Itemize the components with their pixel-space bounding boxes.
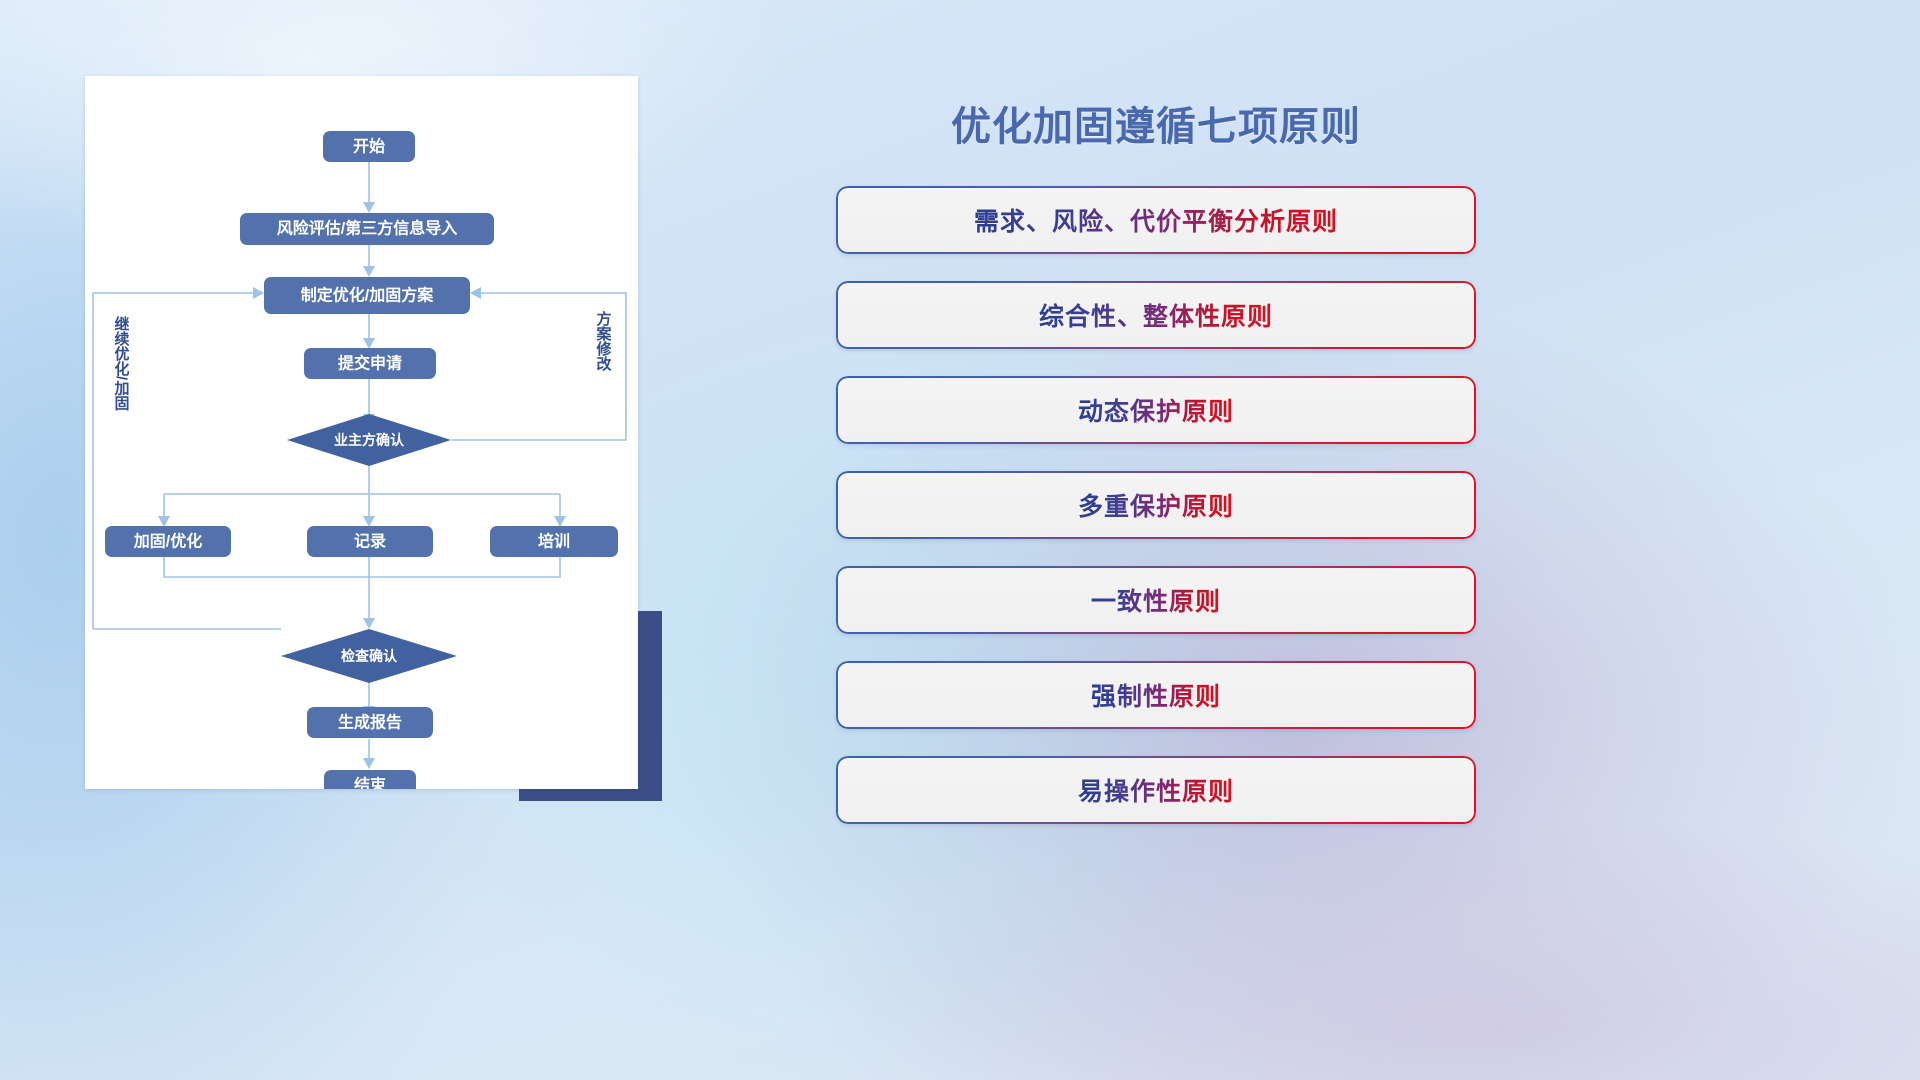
flow-node-submit-label: 提交申请 (338, 354, 402, 373)
page-title: 优化加固遵循七项原则 (836, 94, 1476, 152)
principle-label: 需求、风险、代价平衡分析原则 (974, 202, 1338, 238)
flow-node-training-label: 培训 (538, 532, 570, 551)
flow-node-check-confirm-label: 检查确认 (341, 648, 398, 664)
list-item[interactable]: 一致性原则 (836, 566, 1476, 634)
list-item[interactable]: 需求、风险、代价平衡分析原则 (836, 186, 1476, 254)
flow-node-report-label: 生成报告 (338, 713, 402, 732)
list-item[interactable]: 多重保护原则 (836, 471, 1476, 539)
flowchart-diagram: 开始 风险评估/第三方信息导入 制定优化/加固方案 提交申请 业主方确认 加固/… (85, 76, 638, 789)
principle-label: 动态保护原则 (1078, 392, 1234, 428)
flow-node-start[interactable]: 开始 (323, 131, 415, 162)
flow-node-check-confirm[interactable]: 检查确认 (281, 629, 457, 683)
principle-label: 强制性原则 (1091, 677, 1221, 713)
flow-node-end-label: 结束 (353, 776, 387, 790)
principle-label: 综合性、整体性原则 (1039, 297, 1273, 333)
list-item[interactable]: 动态保护原则 (836, 376, 1476, 444)
list-item[interactable]: 易操作性原则 (836, 756, 1476, 824)
flow-edge-label-left-loop: 继续优化/加固 (113, 315, 131, 411)
flow-node-submit[interactable]: 提交申请 (304, 348, 436, 379)
flow-node-owner-confirm-label: 业主方确认 (334, 432, 405, 448)
flow-node-risk-assessment[interactable]: 风险评估/第三方信息导入 (240, 213, 494, 245)
principles-list: 需求、风险、代价平衡分析原则 综合性、整体性原则 动态保护原则 多重保护原则 一… (836, 186, 1476, 851)
principles-panel: 优化加固遵循七项原则 需求、风险、代价平衡分析原则 综合性、整体性原则 动态保护… (836, 80, 1476, 820)
flow-node-end[interactable]: 结束 (324, 770, 416, 789)
flow-edge-label-right-loop: 方案修改 (595, 310, 613, 372)
flow-node-owner-confirm[interactable]: 业主方确认 (287, 414, 451, 466)
flow-node-report[interactable]: 生成报告 (307, 707, 433, 738)
principle-label: 一致性原则 (1091, 582, 1221, 618)
flow-node-reinforce-label: 加固/优化 (133, 532, 202, 551)
flow-node-record-label: 记录 (354, 533, 386, 551)
flow-node-start-label: 开始 (353, 137, 385, 156)
flow-node-reinforce[interactable]: 加固/优化 (105, 526, 231, 557)
flow-node-plan[interactable]: 制定优化/加固方案 (264, 277, 470, 314)
list-item[interactable]: 综合性、整体性原则 (836, 281, 1476, 349)
list-item[interactable]: 强制性原则 (836, 661, 1476, 729)
flowchart-card: 开始 风险评估/第三方信息导入 制定优化/加固方案 提交申请 业主方确认 加固/… (85, 76, 638, 789)
principle-label: 多重保护原则 (1078, 487, 1234, 523)
principle-label: 易操作性原则 (1078, 772, 1234, 808)
flow-node-risk-assessment-label: 风险评估/第三方信息导入 (277, 219, 457, 238)
flow-node-record[interactable]: 记录 (307, 526, 433, 557)
flow-node-plan-label: 制定优化/加固方案 (301, 286, 434, 305)
flow-node-training[interactable]: 培训 (490, 526, 618, 557)
